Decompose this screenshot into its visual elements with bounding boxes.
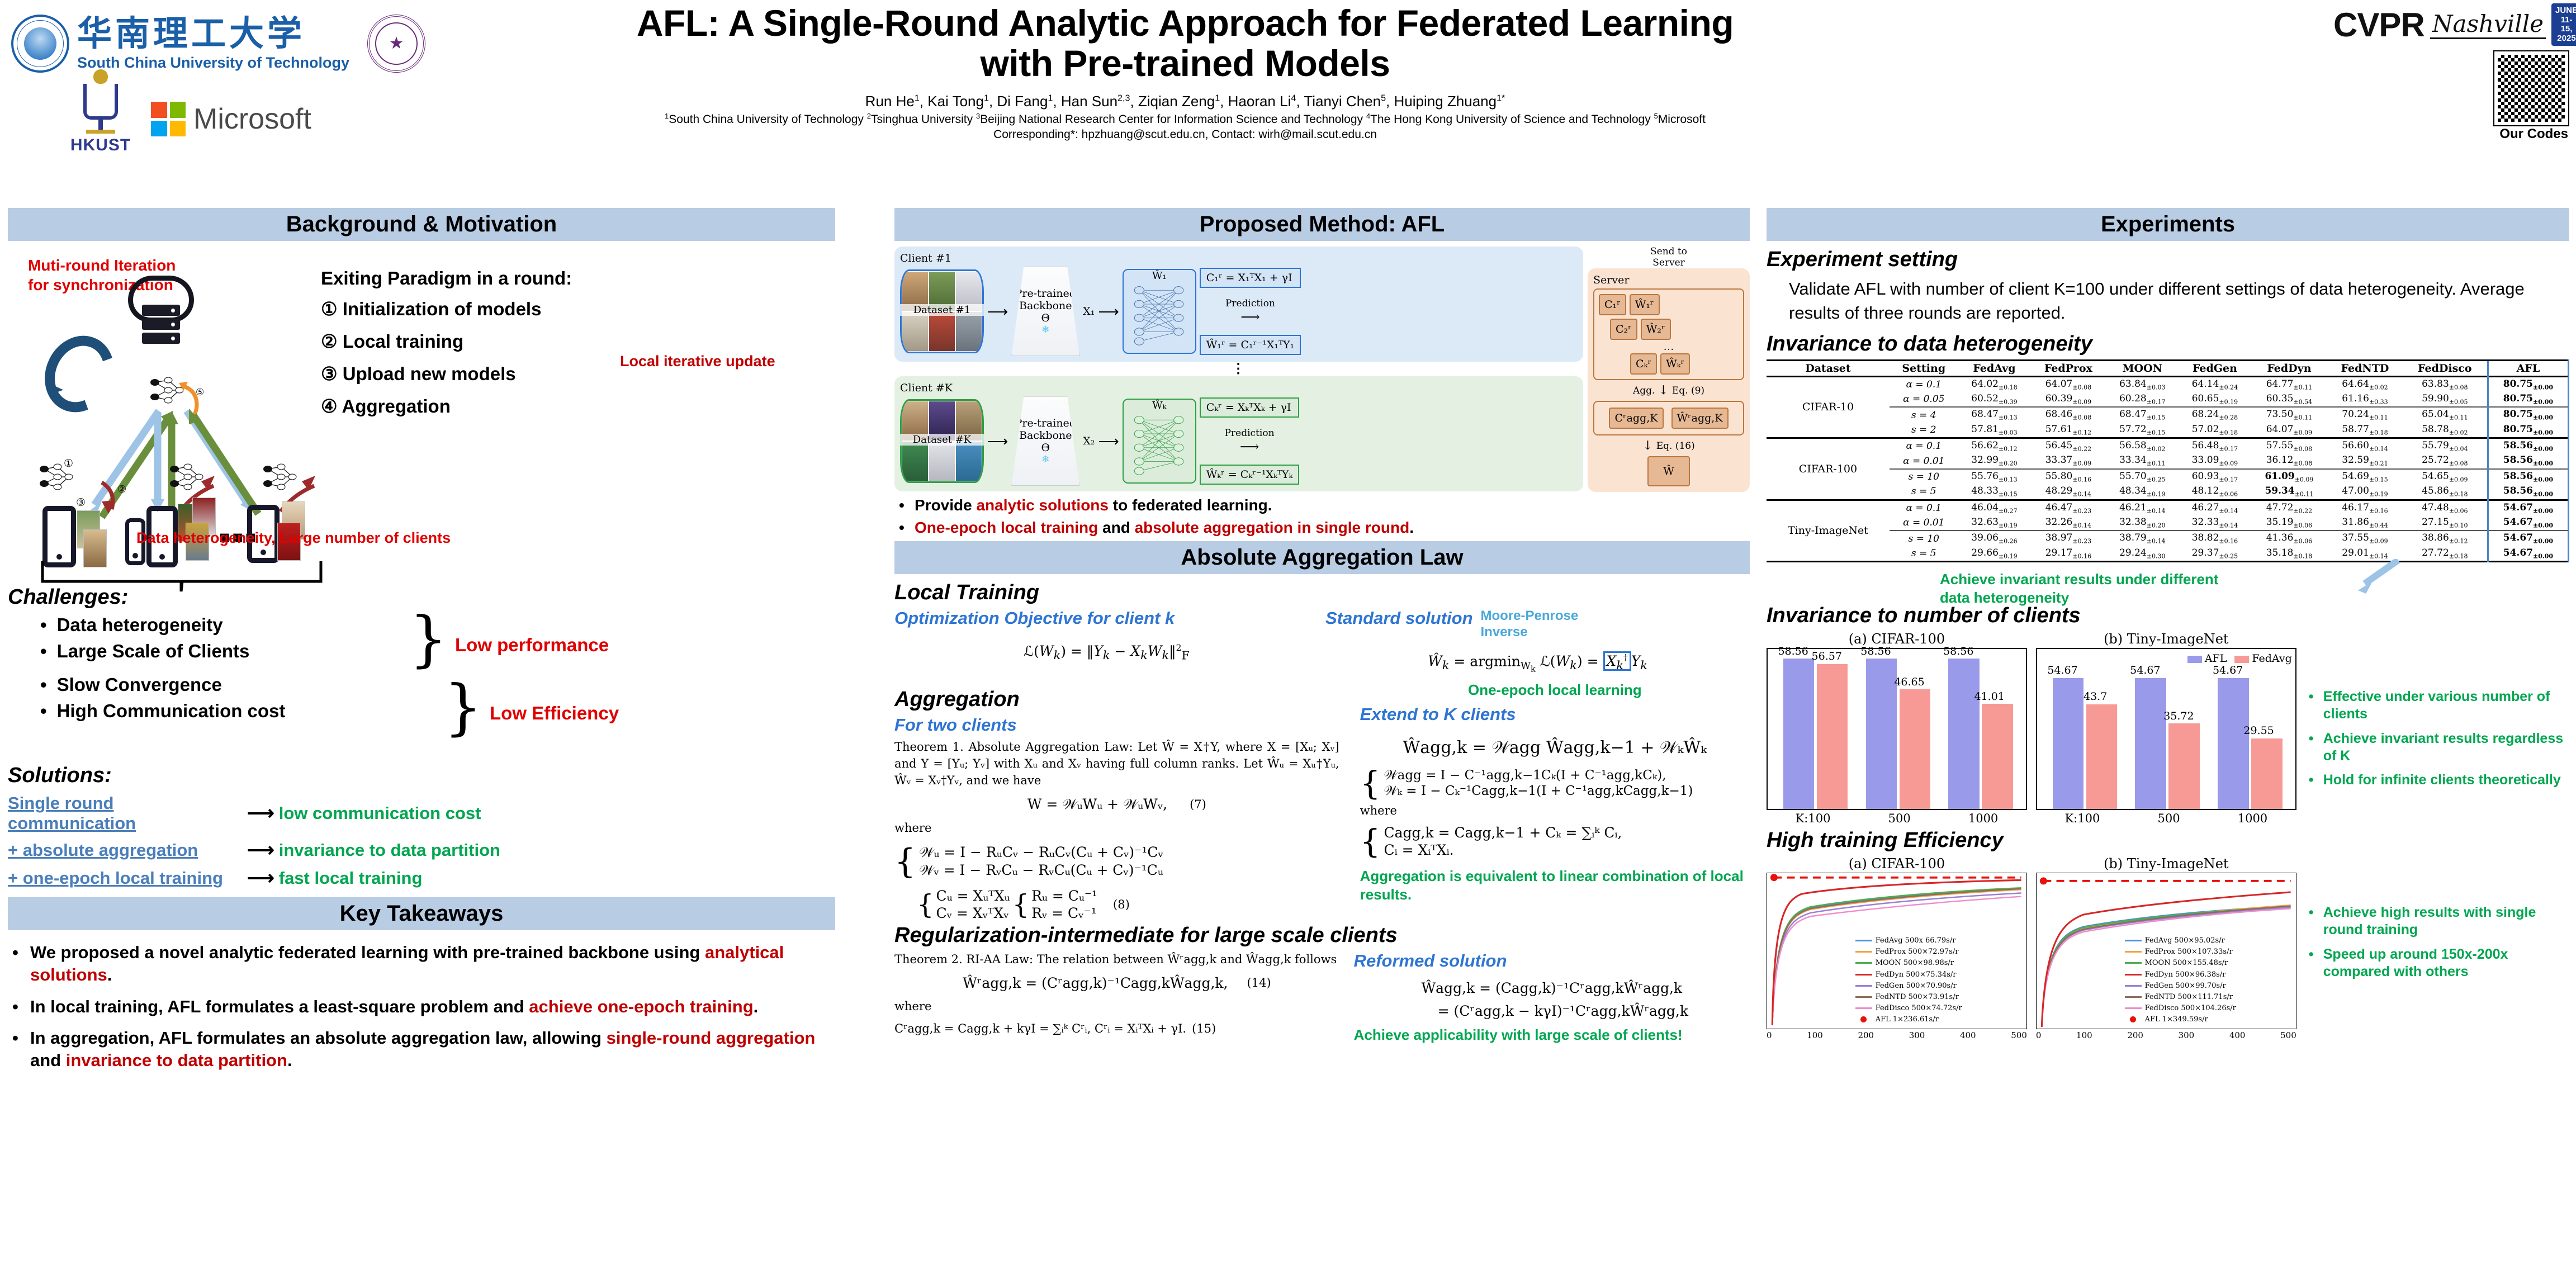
table-value-cell: 57.02±0.18 [2179, 423, 2251, 438]
table-value-cell: 36.12±0.08 [2251, 453, 2327, 468]
table-value-cell: 68.47±0.13 [1958, 407, 2031, 422]
invariance-clients-title: Invariance to number of clients [1767, 604, 2569, 628]
backbone-label: Pre-trained [1015, 417, 1076, 429]
extend-where-line: 𝒲agg = I − C⁻¹agg,k−1Cₖ(I + C⁻¹agg,kCₖ), [1384, 768, 1693, 783]
local-training-title: Local Training [894, 581, 1750, 605]
table-afl-cell: 54.67±0.00 [2488, 546, 2568, 562]
table-value-cell: 57.55±0.08 [2251, 438, 2327, 454]
clients-bullets: Effective under various number of client… [2307, 631, 2569, 825]
solutions-block: Solutions: Single round communication ⟶ … [8, 764, 835, 889]
takeaway-highlight: single-round aggregation [607, 1028, 816, 1048]
xtick: 0 [2036, 1030, 2042, 1040]
prediction-label: Prediction [1225, 298, 1275, 309]
table-dataset-cell: Tiny-ImageNet [1767, 500, 1890, 562]
arrow-down-icon: ↓ [1658, 383, 1668, 397]
standard-solution-title: Standard solution [1325, 608, 1473, 628]
eq14: Ŵʳagg,k = (Cʳagg,k)⁻¹Cagg,kŴagg,k, [963, 975, 1228, 991]
clients-bullet: Achieve invariant results regardless of … [2323, 730, 2569, 765]
table-value-cell: 55.76±0.13 [1958, 469, 2031, 484]
backbone-label-2: Backbone [1019, 429, 1072, 442]
table-value-cell: 64.02±0.18 [1958, 376, 2031, 392]
table-value-cell: 29.37±0.25 [2179, 546, 2251, 562]
table-afl-cell: 54.67±0.00 [2488, 531, 2568, 546]
experiment-setting-title: Experiment setting [1767, 248, 2569, 272]
solution-rhs: low communication cost [279, 803, 481, 823]
line-chart-b-xticks: 0100 200300 400500 [2036, 1029, 2296, 1040]
invariance-hetero-title: Invariance to data heterogeneity [1767, 332, 2569, 356]
table-afl-cell: 80.75±0.00 [2488, 423, 2568, 438]
table-value-cell: 61.16±0.33 [2327, 392, 2403, 407]
scut-seal-icon [11, 15, 69, 73]
paradigm-step-2: ② Local training [321, 330, 679, 352]
table-value-cell: 32.63±0.19 [1958, 515, 2031, 531]
takeaway-highlight: achieve one-epoch training [529, 997, 753, 1016]
challenge-item: Slow Convergence [40, 674, 835, 695]
efficiency-bullets: Achieve high results with single round t… [2307, 856, 2569, 1040]
bullet-mid: and [1098, 519, 1134, 536]
legend-entry: MOON 500×98.98s/r [1855, 958, 1962, 969]
bar-fedavg-500 [2168, 723, 2199, 809]
eq8c-line: Rᵤ = Cᵤ⁻¹ [1031, 888, 1097, 904]
table-value-cell: 33.09±0.09 [2179, 453, 2251, 468]
xtick: 500 [1888, 812, 1911, 825]
xtick: K:100 [2064, 812, 2100, 825]
col-setting: Setting [1890, 360, 1958, 376]
brace-icon: { [1360, 822, 1381, 860]
afl-architecture-figure: Client #1 Dataset #1 ⟶ [894, 247, 1750, 492]
xtick: 0 [1767, 1030, 1772, 1040]
bullet-post: . [1409, 519, 1414, 536]
legend-entry: FedAvg 500×95.02s/r [2125, 935, 2236, 946]
xtick: K:100 [1796, 812, 1831, 825]
table-row: CIFAR-100α = 0.156.62±0.1256.45±0.2256.5… [1767, 438, 2569, 454]
table-value-cell: 68.24±0.28 [2179, 407, 2251, 422]
eq16-label: Eq. (16) [1656, 441, 1695, 452]
efficiency-bullet: Achieve high results with single round t… [2323, 904, 2569, 939]
table-afl-cell: 54.67±0.00 [2488, 500, 2568, 515]
cvpr-badge: CVPR Nashville JUNE 11-15, 2025 Our Code… [2333, 3, 2568, 142]
table-setting-cell: α = 0.1 [1890, 376, 1958, 392]
vertical-ellipsis: ⋮ [894, 365, 1583, 373]
table-afl-cell: 54.67±0.00 [2488, 515, 2568, 531]
arrow-right-icon: ⟶ [1098, 433, 1119, 450]
takeaways-list: We proposed a novel analytic federated l… [8, 941, 835, 1072]
poster-header: 华南理工大学 South China University of Technol… [0, 0, 2576, 190]
takeaway-tail: . [287, 1050, 292, 1070]
table-setting-cell: s = 10 [1890, 469, 1958, 484]
bar-fedavg-1000 [1982, 704, 2012, 809]
table-value-cell: 27.15±0.10 [2403, 515, 2488, 531]
table-row: Tiny-ImageNetα = 0.146.04±0.2746.47±0.23… [1767, 500, 2569, 515]
table-value-cell: 55.79±0.04 [2403, 438, 2488, 454]
bar-plot-area-b: AFL FedAvg 54.67 43.7 54.67 35.72 [2036, 648, 2296, 810]
backbone-label: Pre-trained [1015, 287, 1076, 300]
table-setting-cell: s = 2 [1890, 423, 1958, 438]
clients-bullet: Effective under various number of client… [2323, 688, 2569, 723]
col-fedntd: FedNTD [2327, 360, 2403, 376]
table-value-cell: 57.61±0.12 [2030, 423, 2106, 438]
bar-chart-a-xticks: K:100 500 1000 [1767, 812, 2027, 825]
paradigm-step-1: ① Initialization of models [321, 298, 679, 320]
bar-afl-500 [2135, 678, 2166, 809]
table-value-cell: 54.69±0.15 [2327, 469, 2403, 484]
table-value-cell: 60.93±0.17 [2179, 469, 2251, 484]
federated-learning-diagram: Muti-round Iterationfor synchronization [8, 243, 835, 579]
table-setting-cell: α = 0.01 [1890, 453, 1958, 468]
brace-icon: { [917, 889, 934, 920]
table-value-cell: 60.39±0.09 [2030, 392, 2106, 407]
table-value-cell: 32.99±0.20 [1958, 453, 2031, 468]
table-setting-cell: α = 0.01 [1890, 515, 1958, 531]
arrow-right-icon: ⟶ [987, 433, 1008, 450]
microsoft-logo: Microsoft [151, 102, 311, 136]
table-row: CIFAR-10α = 0.164.02±0.1864.07±0.0863.84… [1767, 376, 2569, 392]
table-setting-cell: s = 4 [1890, 407, 1958, 422]
table-value-cell: 48.34±0.19 [2106, 484, 2179, 500]
callout-arrow-icon [2331, 559, 2421, 598]
x2-label: X₂ [1083, 435, 1095, 447]
bar-afl-500 [1866, 659, 1897, 809]
table-value-cell: 48.12±0.06 [2179, 484, 2251, 500]
takeaway-highlight-2: invariance to data partition [66, 1050, 287, 1070]
backbone-label-2: Backbone [1019, 300, 1072, 312]
table-value-cell: 38.82±0.16 [2179, 531, 2251, 546]
arrow-right-icon: ⟶ [987, 303, 1008, 320]
table-value-cell: 58.77±0.18 [2327, 423, 2403, 438]
paradigm-title: Exiting Paradigm in a round: [321, 268, 679, 289]
efficiency-title: High training Efficiency [1767, 828, 2569, 853]
table-setting-cell: α = 0.1 [1890, 500, 1958, 515]
grouping-brace [30, 559, 343, 609]
xtick: 1000 [2238, 812, 2267, 825]
table-value-cell: 48.33±0.15 [1958, 484, 2031, 500]
table-value-cell: 65.04±0.11 [2403, 407, 2488, 422]
agg-tile: Ŵʳagg,K [1671, 408, 1729, 429]
table-value-cell: 64.07±0.09 [2251, 423, 2327, 438]
bar-fedavg-100 [2086, 704, 2117, 809]
table-setting-cell: s = 5 [1890, 546, 1958, 562]
table-value-cell: 60.65±0.19 [2179, 392, 2251, 407]
table-value-cell: 35.18±0.18 [2251, 546, 2327, 562]
x1-label: X₁ [1083, 305, 1095, 318]
table-value-cell: 59.90±0.05 [2403, 392, 2488, 407]
scut-chinese-name: 华南理工大学 [77, 16, 349, 51]
xtick: 100 [2076, 1030, 2092, 1040]
table-value-cell: 47.48±0.06 [2403, 500, 2488, 515]
bullet-pre: Provide [915, 496, 976, 514]
bar-label: 41.01 [1974, 690, 2005, 703]
legend-entry: MOON 500×155.48s/r [2125, 958, 2236, 969]
solution-lhs: Single round communication [8, 793, 243, 834]
server-tile: Ŵₖʳ [1660, 353, 1690, 375]
table-value-cell: 64.77±0.11 [2251, 376, 2327, 392]
final-model-tile: Ŵ [1647, 456, 1690, 486]
eq-c1: C₁ʳ = X₁ᵀX₁ + γI [1200, 268, 1301, 288]
client1-panel: Client #1 Dataset #1 ⟶ [894, 247, 1583, 362]
qr-code[interactable] [2494, 51, 2568, 125]
paradigm-step-3: ③ Upload new models [321, 363, 679, 385]
table-value-cell: 35.19±0.06 [2251, 515, 2327, 531]
eq8-line: 𝒲ᵥ = I − RᵥCᵤ − RᵥCᵤ(Cᵤ + Cᵥ)⁻¹Cᵤ [919, 862, 1163, 879]
paradigm-step-4: ④ Aggregation [321, 395, 679, 417]
column-experiments: Experiments Experiment setting Validate … [1767, 208, 2569, 1040]
eq8b-line: Cᵤ = XᵤᵀXᵤ [936, 888, 1010, 904]
line-chart-cifar100: (a) CIFAR-100 605040 3020100 Acc (%) [1767, 856, 2027, 1040]
correspondence-line: Corresponding*: hpzhuang@scut.edu.cn, Co… [481, 128, 1890, 141]
two-clients-title: For two clients [894, 715, 1339, 735]
xtick: 1000 [1968, 812, 1998, 825]
xtick: 500 [2011, 1030, 2027, 1040]
existing-paradigm-block: Exiting Paradigm in a round: ① Initializ… [321, 268, 679, 428]
pretrained-backbone-k: Pre-trained Backbone Θ ❄ [1011, 396, 1079, 486]
bullet-highlight-2: absolute aggregation in single round [1135, 519, 1410, 536]
section-header-background: Background & Motivation [8, 208, 835, 241]
legend-afl: AFL [2187, 652, 2227, 665]
moore-penrose-note: Moore-PenroseInverse [1481, 608, 1579, 641]
bar-afl-1000 [1948, 659, 1979, 809]
eq7: W = 𝒲ᵤWᵤ + 𝒲ᵤWᵥ, [1027, 796, 1167, 813]
xtick: 400 [2229, 1030, 2246, 1040]
scut-english-name: South China University of Technology [77, 54, 349, 72]
xtick: 100 [1807, 1030, 1823, 1040]
table-value-cell: 39.06±0.26 [1958, 531, 2031, 546]
takeaway-item: We proposed a novel analytic federated l… [30, 941, 835, 987]
reformed-solution-title: Reformed solution [1354, 951, 1750, 971]
legend-entry: FedProx 500×72.97s/r [1855, 946, 1962, 958]
clientk-label: Client #K [900, 382, 1578, 394]
prediction-label: Prediction [1225, 428, 1275, 439]
table-value-cell: 37.55±0.09 [2327, 531, 2403, 546]
table-afl-cell: 80.75±0.00 [2488, 376, 2568, 392]
snowflake-icon: ❄ [1041, 454, 1049, 465]
standard-solution-equation: Ŵk = argminWk ℒ(Wk) = Xk†Yk [1325, 653, 1750, 674]
wk-label: Ŵₖ [1124, 400, 1195, 411]
line-plot-area-a: 605040 3020100 Acc (%) [1767, 873, 2027, 1029]
regularization-title: Regularization-intermediate for large sc… [894, 924, 1750, 948]
arrow-right-icon: ⟶ [1200, 439, 1300, 454]
column-proposed-method: Proposed Method: AFL Client #1 [894, 208, 1750, 1044]
section-header-takeaways: Key Takeaways [8, 897, 835, 930]
cvpr-city-label: Nashville [2430, 10, 2546, 39]
dataset1-label: Dataset #1 [900, 304, 984, 316]
section-header-experiments: Experiments [1767, 208, 2569, 241]
arrow-right-icon: ⟶ [247, 867, 274, 889]
opt-objective-title: Optimization Objective for client k [894, 608, 1319, 628]
affiliations: 1South China University of Technology 2T… [481, 111, 1890, 128]
poster-root: 华南理工大学 South China University of Technol… [0, 0, 2576, 1288]
bar-afl-100 [1783, 659, 1814, 809]
line-plot-area-b: 504030 20100 [2036, 873, 2296, 1029]
table-value-cell: 56.48±0.17 [2179, 438, 2251, 454]
line-chart-b-legend: FedAvg 500×95.02s/r FedProx 500×107.33s/… [2125, 935, 2236, 1025]
hetero-note: Achieve invariant results under differen… [1940, 570, 2236, 607]
table-value-cell: 31.86±0.44 [2327, 515, 2403, 531]
table-value-cell: 38.79±0.14 [2106, 531, 2179, 546]
backbone-symbol: Θ [1041, 442, 1050, 454]
table-value-cell: 56.62±0.12 [1958, 438, 2031, 454]
table-value-cell: 73.50±0.11 [2251, 407, 2327, 422]
table-value-cell: 38.86±0.12 [2403, 531, 2488, 546]
table-value-cell: 64.14±0.24 [2179, 376, 2251, 392]
table-setting-cell: s = 5 [1890, 484, 1958, 500]
table-setting-cell: α = 0.1 [1890, 438, 1958, 454]
aggregation-title: Aggregation [894, 688, 1339, 712]
line-chart-a-xticks: 0100 200300 400500 [1767, 1029, 2027, 1040]
challenge-label-efficiency: Low Efficiency [490, 703, 619, 724]
table-value-cell: 46.17±0.16 [2327, 500, 2403, 515]
table-afl-cell: 58.56±0.00 [2488, 469, 2568, 484]
line-chart-a-title: (a) CIFAR-100 [1767, 856, 2027, 872]
where-label: where [894, 820, 1339, 836]
snowflake-icon: ❄ [1041, 324, 1049, 335]
table-value-cell: 41.36±0.06 [2251, 531, 2327, 546]
table-value-cell: 33.37±0.09 [2030, 453, 2106, 468]
table-value-cell: 56.45±0.22 [2030, 438, 2106, 454]
extend-where-line: 𝒲ₖ = I − Cₖ⁻¹Cagg,k−1(I + C⁻¹agg,kCagg,k… [1384, 784, 1693, 798]
brace-icon: } [444, 673, 482, 742]
reformed-note: Achieve applicability with large scale o… [1354, 1026, 1750, 1044]
table-value-cell: 55.80±0.16 [2030, 469, 2106, 484]
bar-fedavg-100 [1817, 664, 1848, 809]
table-value-cell: 45.86±0.18 [2403, 484, 2488, 500]
theorem2-text: Theorem 2. RI-AA Law: The relation betwe… [894, 951, 1339, 968]
takeaway-text: In aggregation, AFL formulates an absolu… [30, 1028, 607, 1048]
table-dataset-cell: CIFAR-100 [1767, 438, 1890, 500]
legend-entry: FedNTD 500×73.91s/r [1855, 992, 1962, 1003]
svg-text:⑤: ⑤ [196, 387, 204, 398]
table-value-cell: 32.26±0.14 [2030, 515, 2106, 531]
table-value-cell: 68.46±0.08 [2030, 407, 2106, 422]
challenges-block: Challenges: Data heterogeneity Large Sca… [8, 585, 835, 757]
bar-label: 29.55 [2243, 724, 2274, 737]
w1-label: Ŵ₁ [1124, 270, 1195, 282]
legend-entry: FedDisco 500×74.72s/r [1855, 1003, 1962, 1014]
opt-objective-equation: ℒ(Wk) = ‖Yk − XkWk‖2F [894, 643, 1319, 662]
table-setting-cell: s = 10 [1890, 531, 1958, 546]
reformed-equation-2: = (Cʳagg,k − kγI)⁻¹Cʳagg,kŴʳagg,k [1354, 1003, 1750, 1019]
table-value-cell: 61.09±0.09 [2251, 469, 2327, 484]
server-panel: Server C₁ʳŴ₁ʳ C₂ʳŴ₂ʳ … CₖʳŴₖʳ Agg. ↓ … [1588, 268, 1750, 492]
takeaway-text: We proposed a novel analytic federated l… [30, 943, 705, 962]
bar-afl-100 [2053, 678, 2083, 809]
line-chart-b-title: (b) Tiny-ImageNet [2036, 856, 2296, 872]
where-label: where [894, 998, 1339, 1015]
one-epoch-note: One-epoch local learning [1360, 681, 1750, 699]
solutions-title: Solutions: [8, 764, 835, 788]
eq-ck: Cₖʳ = XₖᵀXₖ + γI [1200, 397, 1300, 418]
table-value-cell: 60.52±0.39 [1958, 392, 2031, 407]
clients-bullet: Hold for infinite clients theoretically [2323, 771, 2569, 789]
legend-entry: FedAvg 500x 66.79s/r [1855, 935, 1962, 946]
extend-where2-line: Cᵢ = XᵢᵀXᵢ. [1384, 842, 1622, 858]
tsinghua-seal-icon: ★ [367, 15, 425, 73]
solution-rhs: invariance to data partition [279, 840, 500, 860]
client1-mlp: Ŵ₁ [1123, 269, 1196, 354]
server-label: Server [1593, 274, 1744, 286]
legend-entry: FedGen 500×99.70s/r [2125, 981, 2236, 992]
method-bullet: One-epoch local training and absolute ag… [915, 519, 1750, 537]
table-dataset-cell: CIFAR-10 [1767, 376, 1890, 438]
col-fedgen: FedGen [2179, 360, 2251, 376]
line-chart-a-legend: FedAvg 500x 66.79s/r FedProx 500×72.97s/… [1855, 935, 1962, 1025]
table-value-cell: 47.00±0.19 [2327, 484, 2403, 500]
pretrained-backbone-1: Pre-trained Backbone Θ ❄ [1011, 267, 1079, 356]
table-value-cell: 32.33±0.14 [2179, 515, 2251, 531]
eq8-number: (8) [1113, 896, 1130, 913]
xtick: 400 [1960, 1030, 1976, 1040]
logo-group-left: 华南理工大学 South China University of Technol… [11, 4, 470, 155]
table-afl-cell: 58.56±0.00 [2488, 438, 2568, 454]
bar-plot-area-a: Top-1 Accuracy (%) 58.56 56.57 58.56 46.… [1767, 648, 2027, 810]
bar-fedavg-500 [1900, 689, 1930, 809]
table-value-cell: 57.81±0.03 [1958, 423, 2031, 438]
section-header-aggregation-law: Absolute Aggregation Law [894, 541, 1750, 574]
cvpr-label: CVPR [2333, 6, 2425, 44]
table-value-cell: 60.28±0.17 [2106, 392, 2179, 407]
agg-label: Agg. [1633, 385, 1655, 396]
table-value-cell: 57.72±0.15 [2106, 423, 2179, 438]
col-feddisco: FedDisco [2403, 360, 2488, 376]
takeaway-tail: . [754, 997, 759, 1016]
arrow-right-icon: ⟶ [1098, 303, 1119, 320]
table-value-cell: 60.35±0.54 [2251, 392, 2327, 407]
bar-chart-cifar100: (a) CIFAR-100 Top-1 Accuracy (%) 58.56 5… [1767, 631, 2027, 825]
theorem1-text: Theorem 1. Absolute Aggregation Law: Let… [894, 738, 1339, 789]
table-value-cell: 32.59±0.21 [2327, 453, 2403, 468]
table-value-cell: 63.83±0.08 [2403, 376, 2488, 392]
legend-entry: FedDyn 500×96.38s/r [2125, 969, 2236, 981]
aggregation-note: Aggregation is equivalent to linear comb… [1360, 867, 1750, 903]
table-value-cell: 29.24±0.30 [2106, 546, 2179, 562]
table-afl-cell: 80.75±0.00 [2488, 407, 2568, 422]
eq9-label: Eq. (9) [1672, 385, 1704, 396]
legend-entry-afl: AFL 1×349.59s/r [2125, 1014, 2236, 1025]
client1-label: Client #1 [900, 252, 1578, 264]
table-value-cell: 68.47±0.15 [2106, 407, 2179, 422]
col-feddyn: FedDyn [2251, 360, 2327, 376]
server-tile: Cₖʳ [1630, 353, 1657, 375]
send-to-server-label: Send toServer [1588, 247, 1750, 268]
bar-label: 43.7 [2083, 690, 2107, 703]
table-afl-cell: 58.56±0.00 [2488, 484, 2568, 500]
legend-entry: FedDisco 500×104.26s/r [2125, 1003, 2236, 1014]
col-fedavg: FedAvg [1958, 360, 2031, 376]
table-value-cell: 47.72±0.22 [2251, 500, 2327, 515]
line-chart-tinyimagenet: (b) Tiny-ImageNet 504030 20100 [2036, 856, 2296, 1040]
clientk-mlp: Ŵₖ [1123, 399, 1196, 484]
legend-fedavg: FedAvg [2234, 652, 2291, 665]
col-dataset: Dataset [1767, 360, 1890, 376]
xtick: 500 [2157, 812, 2180, 825]
bar-fedavg-1000 [2251, 738, 2282, 809]
solution-lhs: + one-epoch local training [8, 868, 243, 888]
bar-label: 58.56 [1778, 645, 1808, 657]
legend-entry-afl: AFL 1×236.61s/r [1855, 1014, 1962, 1025]
table-afl-cell: 80.75±0.00 [2488, 392, 2568, 407]
microsoft-squares-icon [151, 102, 186, 136]
xtick: 500 [2280, 1030, 2296, 1040]
eq-wk: Ŵₖʳ = Cₖʳ⁻¹XₖᵀYₖ [1200, 465, 1300, 485]
section-header-method: Proposed Method: AFL [894, 208, 1750, 241]
bar-label: 35.72 [2163, 710, 2194, 722]
table-value-cell: 59.34±0.11 [2251, 484, 2327, 500]
xtick: 300 [2179, 1030, 2195, 1040]
bullet-highlight: analytic solutions [976, 496, 1109, 514]
table-value-cell: 46.04±0.27 [1958, 500, 2031, 515]
eq8b-line: Cᵥ = XᵥᵀXᵥ [936, 905, 1010, 921]
legend-entry: FedGen 500×70.90s/r [1855, 981, 1962, 992]
bar-label: 54.67 [2047, 664, 2077, 676]
